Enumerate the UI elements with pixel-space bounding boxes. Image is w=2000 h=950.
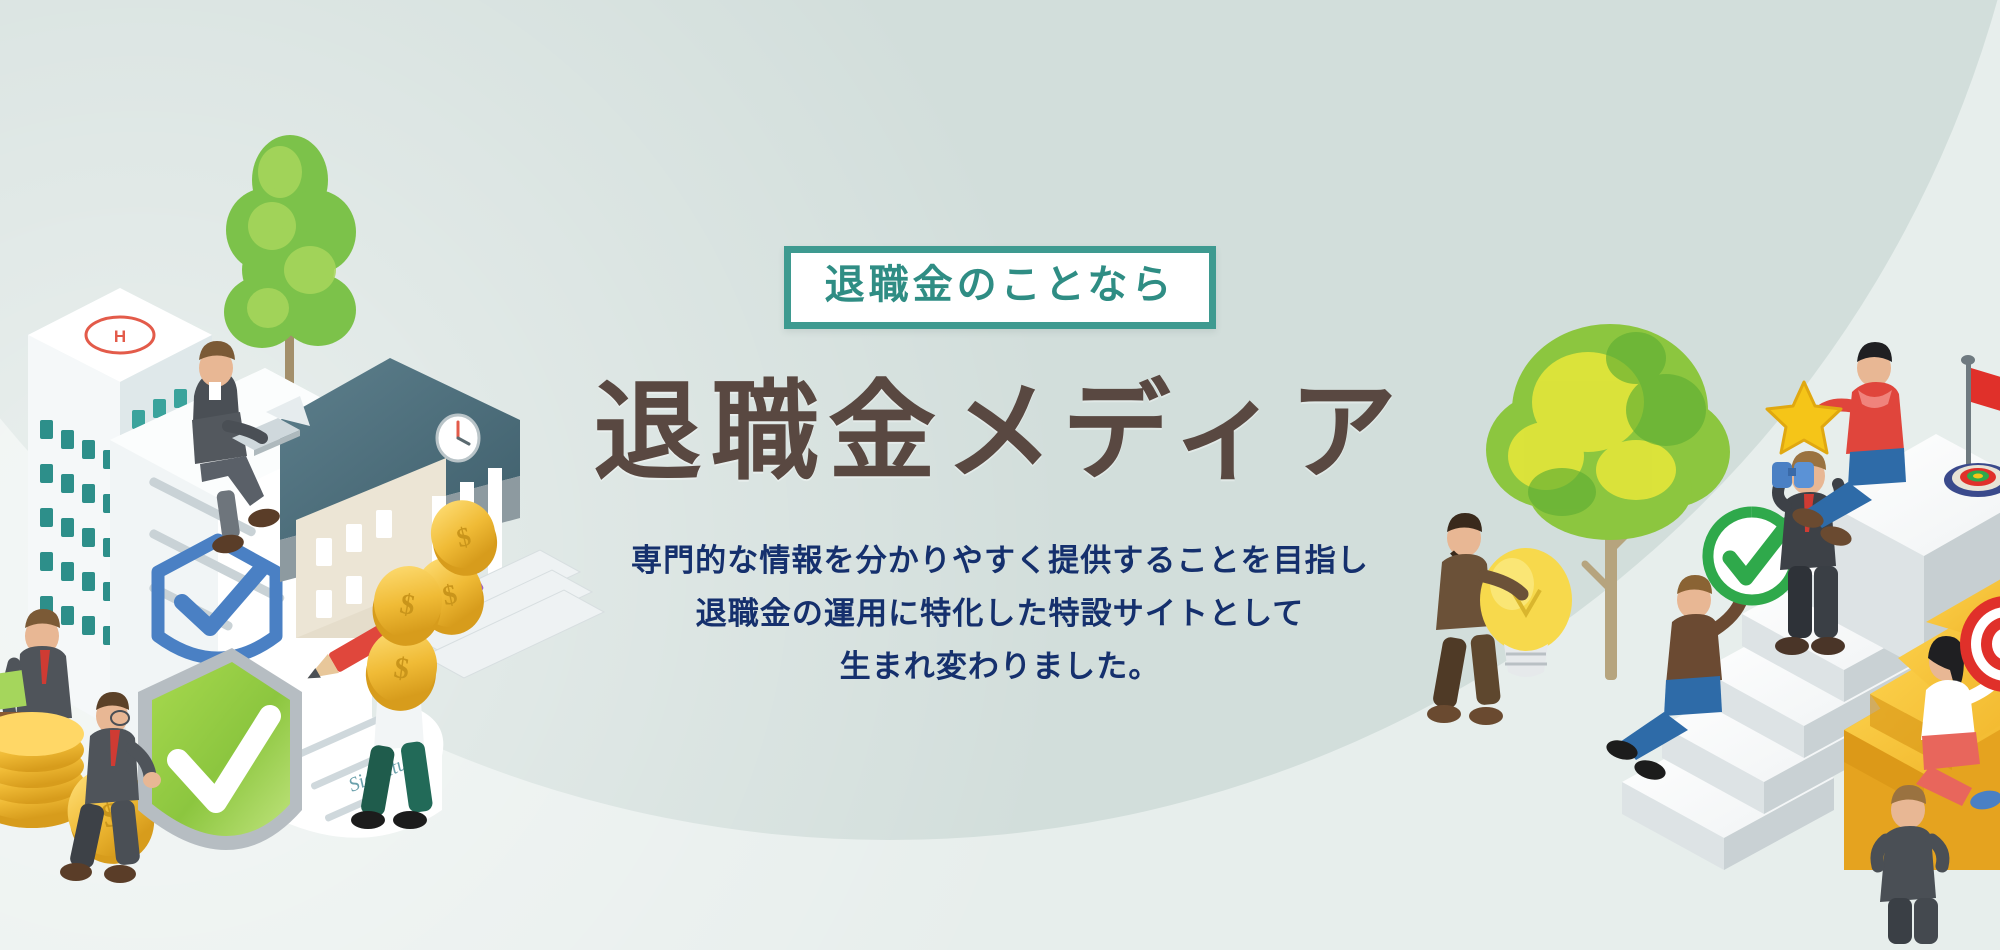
hero-badge: 退職金のことなら: [784, 246, 1217, 329]
red-flag: [1961, 355, 2000, 470]
hero-subtitle: 専門的な情報を分かりやすく提供することを目指し 退職金の運用に特化した特設サイト…: [631, 534, 1369, 694]
loose-coins-right: $ $: [352, 498, 532, 658]
hero-subtitle-line-3: 生まれ変わりました。: [631, 640, 1369, 693]
svg-text:H: H: [114, 327, 126, 346]
hero-badge-label: 退職金のことなら: [825, 263, 1176, 307]
hero-subtitle-line-1: 専門的な情報を分かりやすく提供することを目指し: [631, 534, 1369, 587]
bank-clock: [437, 415, 479, 461]
hero-banner: H: [0, 0, 2000, 950]
lightbulb-man: [1427, 513, 1572, 725]
page-title: 退職金メディア: [594, 373, 1407, 492]
illustration-right: [1400, 170, 2000, 870]
hero-subtitle-line-2: 退職金の運用に特化した特設サイトとして: [631, 587, 1369, 640]
